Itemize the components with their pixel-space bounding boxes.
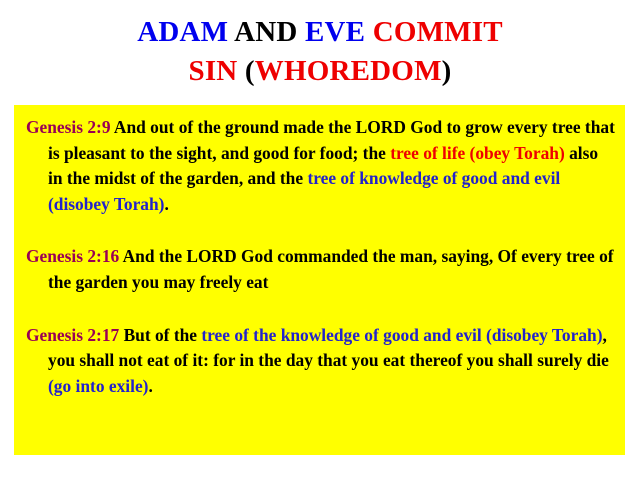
verse-segment: And the LORD God commanded the man, sayi… bbox=[48, 246, 614, 292]
title-space-4 bbox=[237, 55, 244, 87]
title-word-eve: EVE bbox=[305, 16, 365, 48]
title-word-and: AND bbox=[234, 16, 297, 48]
verse-reference: Genesis 2:9 bbox=[26, 117, 111, 137]
title-word-commit: COMMIT bbox=[373, 16, 503, 48]
verse-block: Genesis 2:17 But of the tree of the know… bbox=[26, 323, 615, 400]
verse-segment-highlight: tree of life (obey Torah) bbox=[390, 143, 565, 163]
verse-block: Genesis 2:16 And the LORD God commanded … bbox=[26, 244, 615, 295]
verse-reference: Genesis 2:16 bbox=[26, 246, 119, 266]
verse-segment-highlight: tree of the knowledge of good and evil (… bbox=[201, 325, 602, 345]
verse-segment-highlight: (go into exile) bbox=[48, 376, 148, 396]
verse-segment: . bbox=[148, 376, 152, 396]
title-word-adam: ADAM bbox=[137, 16, 228, 48]
verse-segment: But of the bbox=[119, 325, 201, 345]
title-line-1: ADAM AND EVE COMMIT bbox=[0, 13, 640, 52]
title-paren-close: ) bbox=[442, 55, 452, 87]
verse-segment: . bbox=[164, 194, 168, 214]
title-line-2: SIN (WHOREDOM) bbox=[0, 52, 640, 91]
verse-block: Genesis 2:9 And out of the ground made t… bbox=[26, 115, 615, 217]
title-paren-open: ( bbox=[245, 55, 255, 87]
title-space-3 bbox=[365, 16, 372, 48]
title-word-whoredom: WHOREDOM bbox=[255, 55, 442, 87]
title-word-sin: SIN bbox=[188, 55, 237, 87]
title-space-2 bbox=[298, 16, 305, 48]
slide-root: ADAM AND EVE COMMIT SIN (WHOREDOM) Genes… bbox=[0, 0, 640, 480]
verse-reference: Genesis 2:17 bbox=[26, 325, 119, 345]
scripture-panel: Genesis 2:9 And out of the ground made t… bbox=[14, 105, 625, 455]
slide-title: ADAM AND EVE COMMIT SIN (WHOREDOM) bbox=[0, 13, 640, 91]
